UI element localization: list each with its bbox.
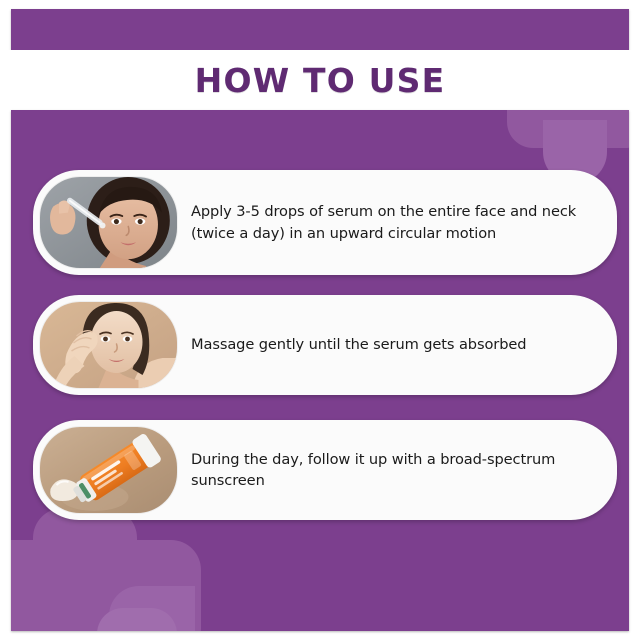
body-panel: Apply 3-5 drops of serum on the entire f…	[11, 110, 629, 631]
serum-dropper-photo	[40, 177, 177, 268]
step-text: Apply 3-5 drops of serum on the entire f…	[177, 201, 617, 243]
title-band: HOW TO USE	[0, 50, 640, 110]
page-title: HOW TO USE	[195, 61, 446, 100]
step-card: Apply 3-5 drops of serum on the entire f…	[33, 170, 617, 275]
step-thumbnail-wrap	[33, 170, 177, 275]
how-to-use-infographic: HOW TO USE	[0, 0, 640, 640]
step-text: Massage gently until the serum gets abso…	[177, 334, 617, 355]
sunscreen-tube-photo	[40, 427, 177, 513]
step-text: During the day, follow it up with a broa…	[177, 449, 617, 491]
top-purple-bar	[11, 9, 629, 50]
face-massage-photo	[40, 302, 177, 388]
clover-lobe-icon	[97, 608, 177, 631]
step-thumbnail-wrap	[33, 295, 177, 395]
step-card: Massage gently until the serum gets abso…	[33, 295, 617, 395]
step-card: During the day, follow it up with a broa…	[33, 420, 617, 520]
step-thumbnail-wrap	[33, 420, 177, 520]
